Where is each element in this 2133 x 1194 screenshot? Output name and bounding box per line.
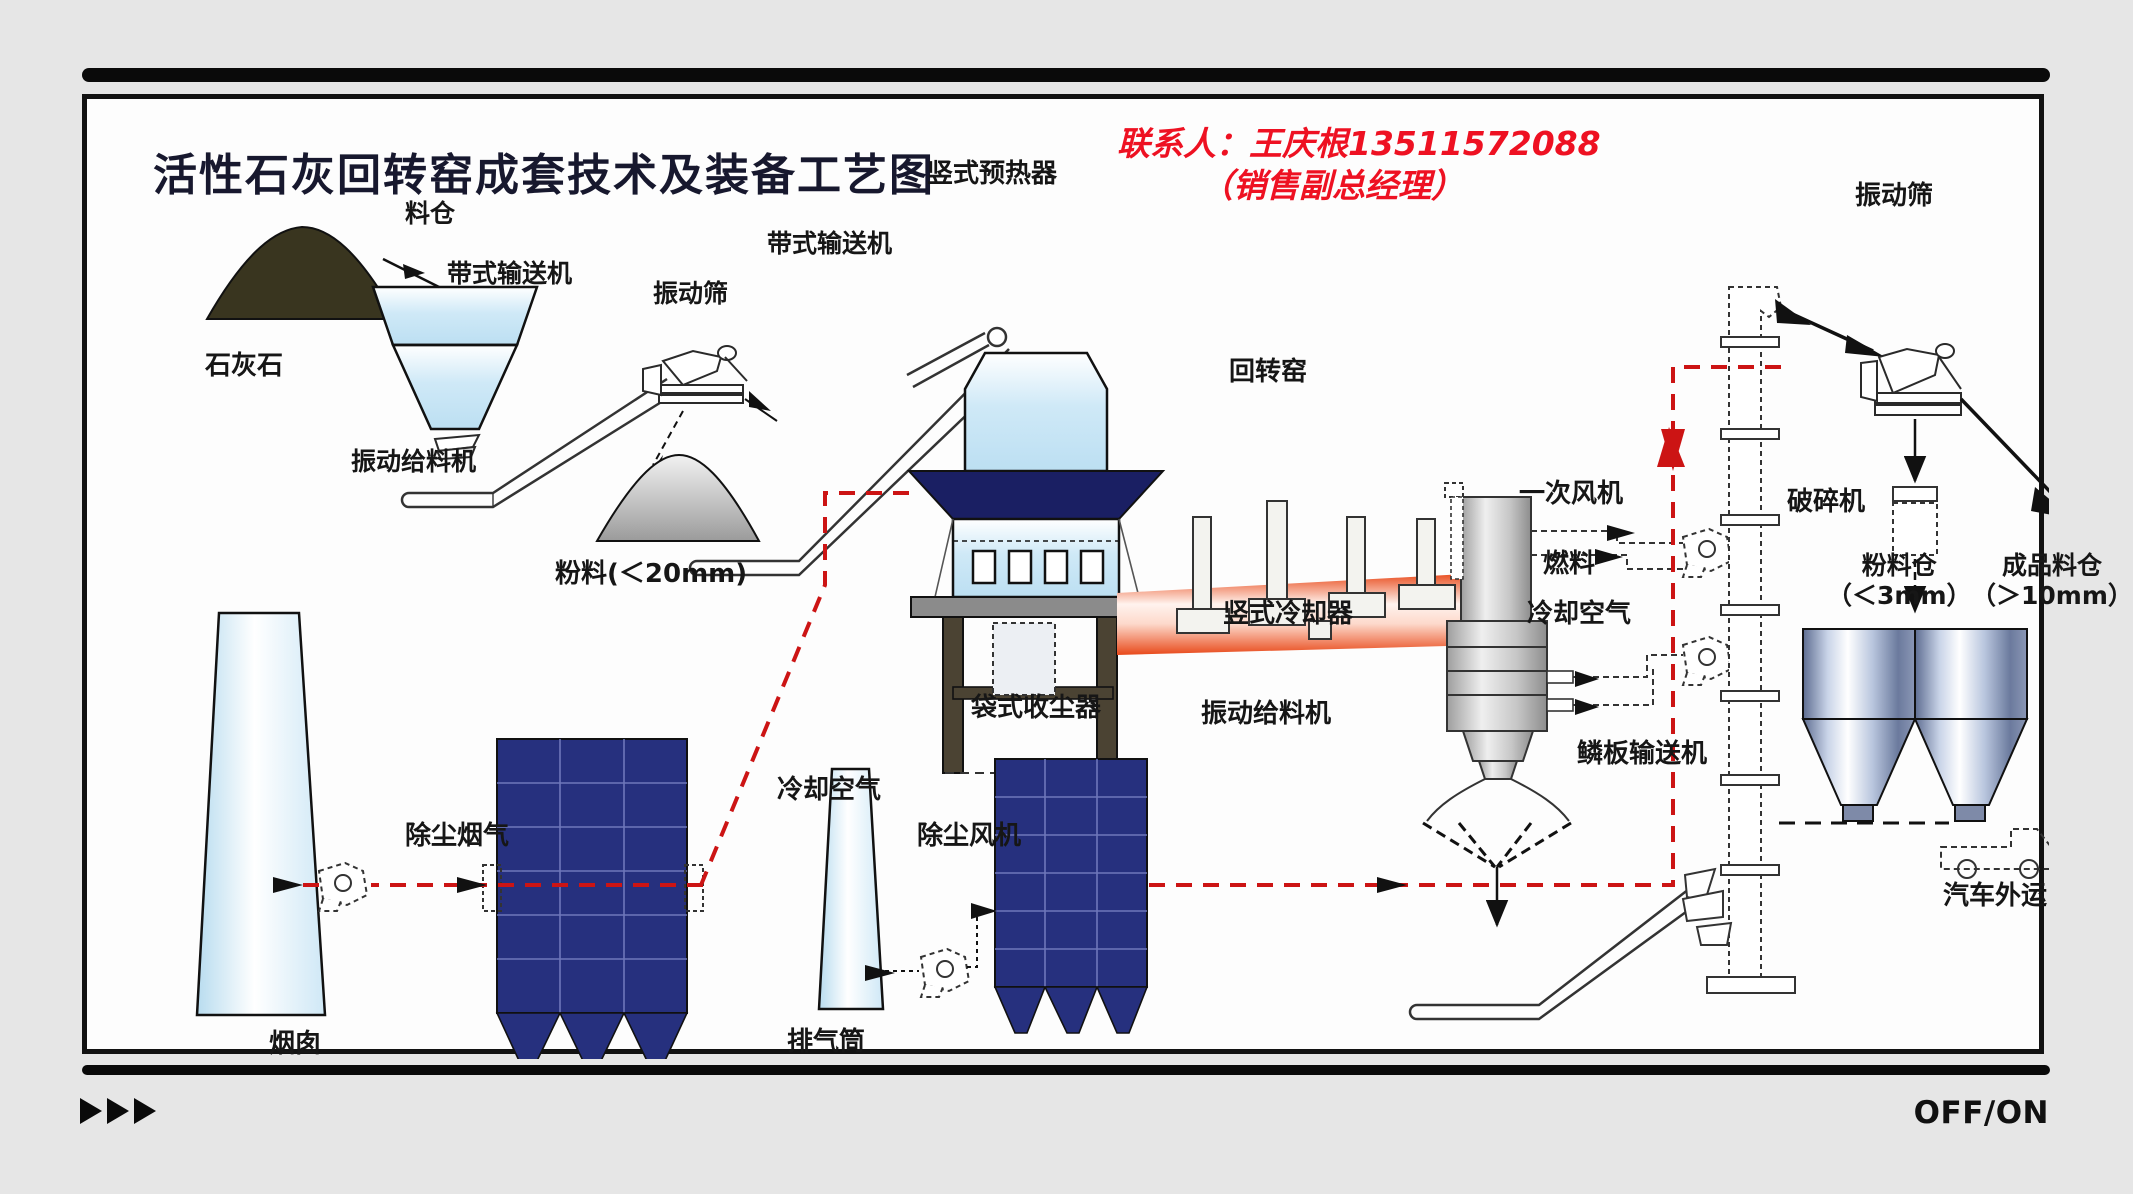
feed-silo-graphic	[373, 287, 537, 429]
rotary-kiln-graphic	[1117, 501, 1483, 655]
label-product-silo-10mm-line2: （＞10mm）	[1971, 581, 2133, 611]
process-flow-diagram: 活性石灰回转窑成套技术及装备工艺图 联系人：王庆根13511572088 （销售…	[82, 94, 2044, 1054]
powder-pile-20mm-graphic	[597, 455, 759, 541]
off-on-toggle-label[interactable]: OFF/ON	[1914, 1095, 2049, 1131]
label-product-silo-10mm: 成品料仓 （＞10mm）	[1971, 551, 2133, 610]
label-vibrating-feeder-2: 振动给料机	[1201, 699, 1331, 730]
vibrating-screen-2-graphic	[1861, 344, 1961, 415]
product-silos-graphic	[1803, 629, 2027, 821]
vibrating-screen-1-graphic	[643, 346, 747, 403]
bag-dust-collector-center-graphic	[995, 759, 1147, 1033]
belt-conveyor-1-graphic	[402, 379, 679, 507]
label-cooling-air-left: 冷却空气	[777, 775, 881, 806]
label-cooling-air-right: 冷却空气	[1527, 599, 1631, 630]
crusher-graphic	[1893, 487, 1937, 555]
contact-name-phone: 联系人：王庆根13511572088	[1117, 123, 1547, 165]
label-vibrating-feeder-1: 振动给料机	[351, 447, 476, 477]
label-dust-fan: 除尘风机	[917, 821, 1021, 852]
label-limestone: 石灰石	[205, 351, 283, 382]
contact-role: （销售副总经理）	[1117, 165, 1547, 207]
flue-gas-fan-graphic	[319, 863, 367, 911]
cooling-air-fan-graphic	[1683, 637, 1731, 685]
label-crusher: 破碎机	[1787, 487, 1865, 518]
bag-dust-collector-left-graphic	[483, 739, 703, 1059]
label-bag-dust-collector: 袋式收尘器	[971, 693, 1101, 724]
label-powder-silo-3mm: 粉料仓 （＜3mm）	[1827, 551, 1972, 610]
label-truck-out: 汽车外运	[1943, 881, 2047, 912]
truck-graphic	[1941, 829, 2049, 878]
label-vibrating-screen-1: 振动筛	[653, 279, 728, 309]
label-dedusted-flue-gas: 除尘烟气	[405, 821, 509, 852]
label-exhaust-stack: 排气筒	[787, 1027, 865, 1058]
diagram-artwork	[87, 99, 2049, 1059]
primary-air-fan-graphic	[1683, 529, 1731, 577]
top-divider-bar	[82, 68, 2050, 82]
contact-info: 联系人：王庆根13511572088 （销售副总经理）	[1117, 123, 1547, 207]
belt-conveyor-2-graphic	[690, 349, 1023, 575]
dust-fan-graphic	[921, 949, 969, 997]
apron-conveyor-graphic	[1410, 869, 1715, 1019]
label-belt-conveyor-1: 带式输送机	[447, 259, 572, 289]
label-primary-fan: 一次风机	[1519, 479, 1623, 510]
label-vertical-preheater: 竖式预热器	[927, 159, 1057, 190]
bucket-elevator-graphic	[1683, 287, 1795, 993]
label-apron-conveyor: 鳞板输送机	[1577, 739, 1707, 770]
limestone-pile-graphic	[207, 227, 397, 319]
label-feed-silo: 料仓	[405, 199, 455, 229]
label-powder-silo-3mm-line1: 粉料仓	[1827, 551, 1972, 581]
play-triangle-icon-1[interactable]	[80, 1098, 102, 1124]
playback-forward-icons[interactable]	[80, 1098, 156, 1124]
bottom-divider-bar	[82, 1065, 2050, 1075]
label-powder-20mm: 粉料(＜20mm)	[555, 559, 747, 590]
play-triangle-icon-3[interactable]	[134, 1098, 156, 1124]
label-product-silo-10mm-line1: 成品料仓	[1971, 551, 2133, 581]
label-fuel: 燃料	[1543, 549, 1595, 580]
play-triangle-icon-2[interactable]	[107, 1098, 129, 1124]
chimney-graphic	[197, 613, 325, 1015]
label-powder-silo-3mm-line2: （＜3mm）	[1827, 581, 1972, 611]
label-belt-conveyor-2: 带式输送机	[767, 229, 892, 259]
page-title: 活性石灰回转窑成套技术及装备工艺图	[153, 139, 935, 203]
label-chimney: 烟囱	[269, 1029, 321, 1060]
label-vibrating-screen-2: 振动筛	[1855, 181, 1933, 212]
label-vertical-cooler: 竖式冷却器	[1223, 599, 1353, 630]
label-rotary-kiln: 回转窑	[1229, 357, 1307, 388]
